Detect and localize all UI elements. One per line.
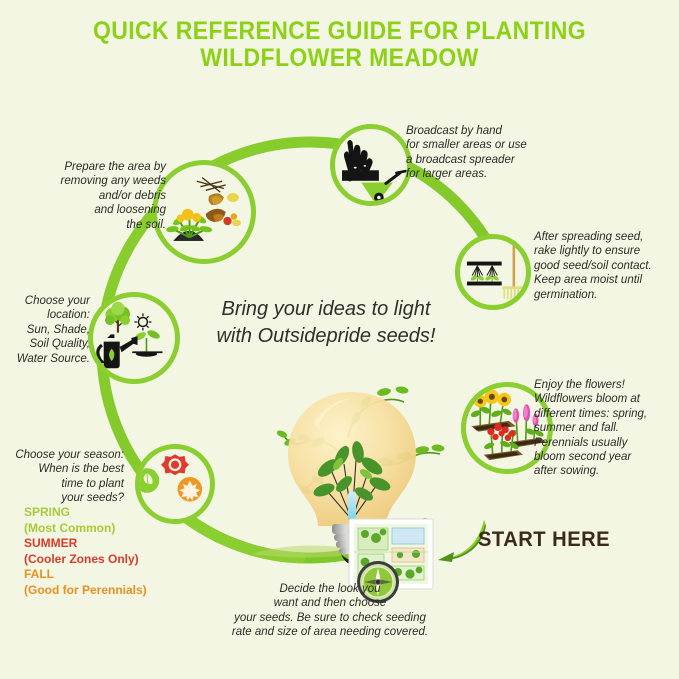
- flower-icon: [161, 454, 189, 475]
- season-spring-note: (Most Common): [24, 521, 204, 537]
- season-spring-name: SPRING: [24, 505, 204, 521]
- season-legend: SPRING (Most Common) SUMMER (Cooler Zone…: [24, 505, 204, 598]
- step-node-prepare-area[interactable]: [152, 160, 256, 264]
- infographic-canvas: QUICK REFERENCE GUIDE FOR PLANTING WILDF…: [0, 0, 679, 679]
- step-node-choose-location[interactable]: [88, 292, 180, 384]
- page-title: QUICK REFERENCE GUIDE FOR PLANTING WILDF…: [27, 18, 652, 72]
- tagline-line-2: with Outsidepride seeds!: [216, 325, 435, 347]
- step-text-prepare-area: Prepare the area by removing any weeds a…: [46, 160, 166, 232]
- season-fall-note: (Good for Perennials): [24, 583, 204, 599]
- season-summer-name: SUMMER: [24, 536, 204, 552]
- start-here-label: START HERE: [478, 528, 610, 552]
- season-summer-note: (Cooler Zones Only): [24, 552, 204, 568]
- center-tagline: Bring your ideas to light with Outsidepr…: [178, 296, 474, 350]
- tree-sun-wateringcan-icon: [93, 297, 175, 379]
- maple-leaf-icon: [178, 477, 203, 502]
- step-text-choose-season: Choose your season: When is the best tim…: [8, 448, 124, 506]
- tagline-line-1: Bring your ideas to light: [221, 298, 430, 320]
- title-line-2: WILDFLOWER MEADOW: [27, 45, 652, 72]
- step-text-choose-look: Decide the look you want and then choose…: [212, 582, 448, 640]
- step-text-rake-and-water: After spreading seed, rake lightly to en…: [534, 230, 679, 302]
- title-line-1: QUICK REFERENCE GUIDE FOR PLANTING: [93, 17, 586, 45]
- step-text-broadcast-seed: Broadcast by hand for smaller areas or u…: [406, 124, 556, 182]
- step-text-choose-location: Choose your location: Sun, Shade, Soil Q…: [4, 294, 90, 366]
- weeds-and-debris-icon: [157, 165, 251, 259]
- hand-sowing-spreader-icon: [335, 129, 407, 201]
- step-text-enjoy-flowers: Enjoy the flowers! Wildflowers bloom at …: [534, 378, 679, 479]
- step-node-broadcast-seed[interactable]: [330, 124, 412, 206]
- season-fall-name: FALL: [24, 567, 204, 583]
